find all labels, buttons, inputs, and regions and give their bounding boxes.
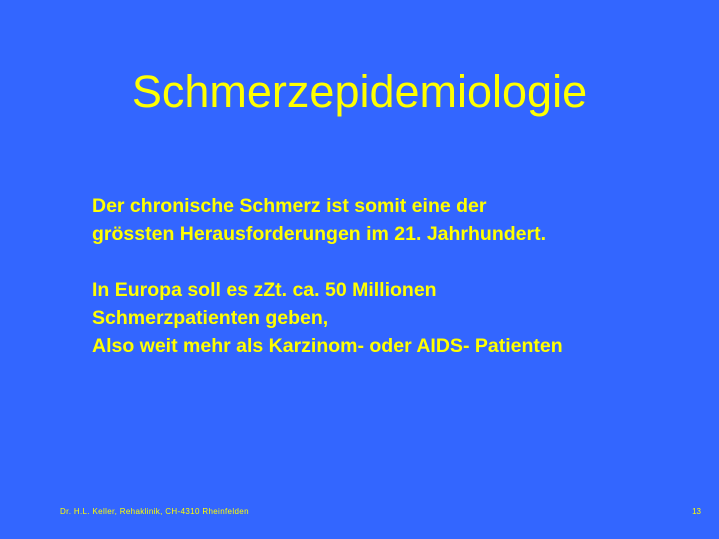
page-title: Schmerzepidemiologie xyxy=(0,66,719,118)
body-line: Schmerzpatienten geben, xyxy=(92,304,702,332)
paragraph-spacer xyxy=(92,248,702,276)
paragraph-2: In Europa soll es zZt. ca. 50 Millionen … xyxy=(92,276,702,360)
body-line: Also weit mehr als Karzinom- oder AIDS- … xyxy=(92,332,702,360)
presentation-slide: Schmerzepidemiologie Der chronische Schm… xyxy=(0,0,719,539)
footer-credit: Dr. H.L. Keller, Rehaklinik, CH-4310 Rhe… xyxy=(60,507,249,517)
body-line: grössten Herausforderungen im 21. Jahrhu… xyxy=(92,220,702,248)
page-number: 13 xyxy=(692,507,701,517)
body-line: In Europa soll es zZt. ca. 50 Millionen xyxy=(92,276,702,304)
body-line: Der chronische Schmerz ist somit eine de… xyxy=(92,192,702,220)
paragraph-1: Der chronische Schmerz ist somit eine de… xyxy=(92,192,702,248)
slide-body-text: Der chronische Schmerz ist somit eine de… xyxy=(92,192,702,360)
